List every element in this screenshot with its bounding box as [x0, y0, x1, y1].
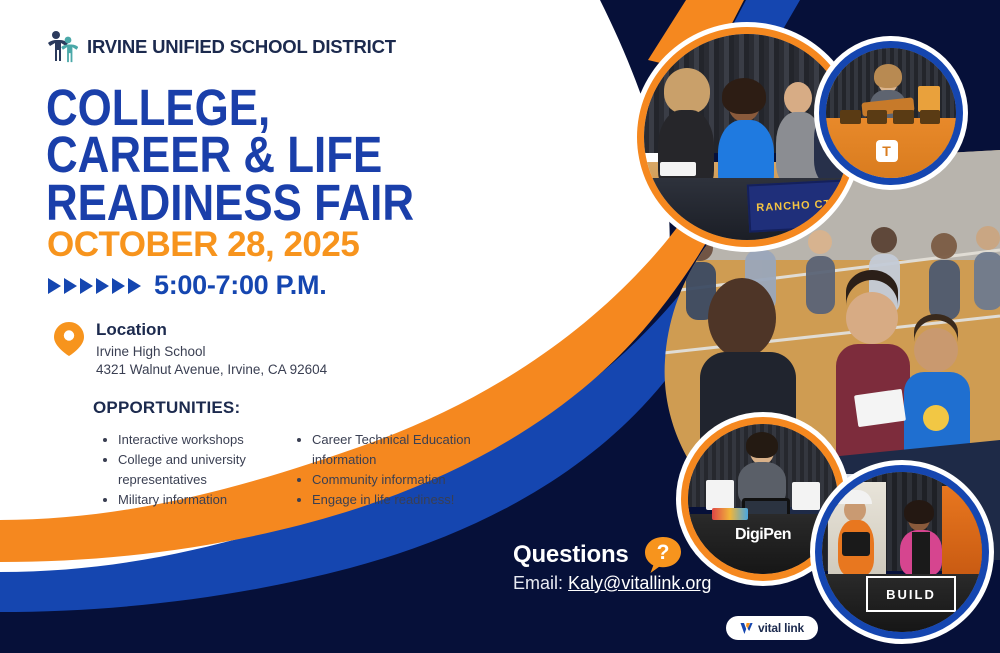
location-block: Location Irvine High School 4321 Walnut … — [54, 320, 327, 379]
location-venue: Irvine High School — [96, 343, 327, 361]
question-bubble-icon: ? — [643, 535, 683, 575]
list-item: College and university representatives — [118, 450, 268, 490]
location-heading: Location — [96, 320, 327, 340]
event-time-row: 5:00-7:00 P.M. — [48, 270, 326, 301]
questions-label: Questions — [513, 541, 629, 569]
flyer-content: IRVINE UNIFIED SCHOOL DISTRICT COLLEGE, … — [0, 0, 1000, 653]
page-title: COLLEGE, CAREER & LIFE READINESS FAIR — [46, 84, 416, 226]
triangle-arrows-icon — [48, 278, 141, 294]
list-item: Military information — [118, 490, 268, 510]
vital-link-logo: vital link — [726, 616, 818, 640]
event-date: OCTOBER 28, 2025 — [47, 225, 359, 265]
email-label: Email: — [513, 573, 563, 593]
vital-link-logo-icon — [740, 622, 753, 635]
event-time: 5:00-7:00 P.M. — [154, 270, 326, 301]
flyer-poster: RANCHO CTE T — [0, 0, 1000, 653]
opportunities-lists: Interactive workshops College and univer… — [100, 430, 482, 510]
email-link[interactable]: Kaly@vitallink.org — [568, 573, 711, 593]
location-address: 4321 Walnut Avenue, Irvine, CA 92604 — [96, 361, 327, 379]
opportunities-column-right: Career Technical Education information C… — [294, 430, 482, 510]
svg-text:?: ? — [656, 541, 669, 564]
email-line: Email: Kaly@vitallink.org — [513, 573, 711, 594]
questions-row: Questions ? — [513, 535, 683, 575]
list-item: Community information — [312, 470, 482, 490]
opportunities-column-left: Interactive workshops College and univer… — [100, 430, 268, 510]
district-name: IRVINE UNIFIED SCHOOL DISTRICT — [87, 36, 396, 58]
district-logo-row: IRVINE UNIFIED SCHOOL DISTRICT — [44, 28, 396, 66]
list-item: Career Technical Education information — [312, 430, 482, 470]
headline-line-1: COLLEGE, CAREER & LIFE — [46, 79, 382, 183]
opportunities-heading: OPPORTUNITIES: — [93, 398, 240, 418]
vital-link-name: vital link — [758, 621, 804, 635]
list-item: Engage in life readiness! — [312, 490, 482, 510]
iusd-people-logo-icon — [44, 28, 78, 66]
headline-line-2: READINESS FAIR — [46, 179, 416, 226]
list-item: Interactive workshops — [118, 430, 268, 450]
map-pin-icon — [54, 322, 84, 356]
